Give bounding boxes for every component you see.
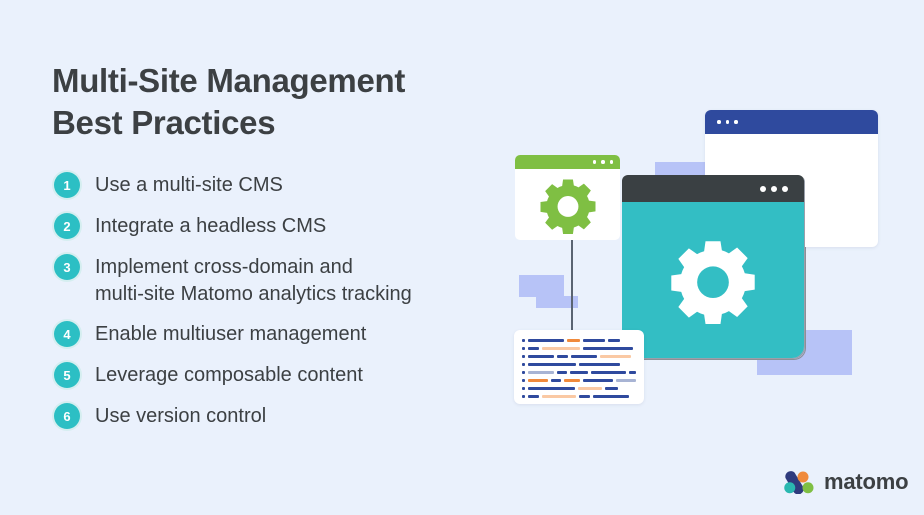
code-segment	[579, 363, 620, 367]
code-bullet	[522, 387, 525, 390]
list-number-badge: 3	[52, 252, 86, 281]
teal-window-titlebar	[622, 175, 804, 202]
code-segment	[567, 339, 580, 343]
list-item-label: Enable multiuser management	[95, 319, 366, 347]
matomo-logo-text: matomo	[824, 471, 908, 493]
teal-window	[622, 175, 804, 358]
matomo-logo-icon	[783, 470, 816, 494]
code-line	[522, 345, 636, 352]
code-line	[522, 385, 636, 392]
code-segment	[600, 355, 631, 359]
code-segment	[570, 371, 588, 375]
code-segment	[528, 379, 548, 383]
code-segment	[564, 379, 580, 383]
list-item-label: Use version control	[95, 401, 266, 429]
list-number-badge: 6	[52, 401, 86, 430]
list-number-badge: 5	[52, 360, 86, 389]
code-segment	[583, 339, 605, 343]
code-line	[522, 353, 636, 360]
list-item: 3 Implement cross-domain and multi-site …	[52, 252, 522, 307]
list-number-badge: 1	[52, 170, 86, 199]
code-segment	[528, 371, 554, 375]
code-snippet-card	[514, 330, 644, 404]
code-segment	[528, 347, 539, 351]
code-bullet	[522, 371, 525, 374]
code-segment	[542, 395, 576, 399]
window-dots-icon	[593, 160, 614, 164]
code-bullet	[522, 363, 525, 366]
code-line	[522, 393, 636, 400]
list-item-label: Use a multi-site CMS	[95, 170, 283, 198]
code-bullet	[522, 379, 525, 382]
window-dots-icon	[717, 120, 738, 124]
code-segment	[593, 395, 629, 399]
accent-block	[519, 275, 564, 297]
code-segment	[551, 379, 561, 383]
list-item: 4 Enable multiuser management	[52, 319, 522, 348]
code-segment	[557, 371, 567, 375]
list-item-label: Leverage composable content	[95, 360, 363, 388]
green-window-body	[515, 169, 620, 240]
code-line	[522, 361, 636, 368]
code-segment	[616, 379, 636, 383]
gear-icon	[669, 236, 757, 324]
connector-line	[571, 235, 573, 335]
code-segment	[528, 395, 539, 399]
code-segment	[583, 347, 633, 351]
matomo-logo: matomo	[783, 470, 908, 494]
code-segment	[528, 355, 554, 359]
slide-root: Multi-Site Management Best Practices 1 U…	[0, 0, 924, 515]
list-item-label: Integrate a headless CMS	[95, 211, 326, 239]
list-item: 2 Integrate a headless CMS	[52, 211, 522, 240]
content-column: Multi-Site Management Best Practices 1 U…	[52, 60, 522, 442]
green-window-titlebar	[515, 155, 620, 169]
code-segment	[591, 371, 626, 375]
code-segment	[571, 355, 597, 359]
code-segment	[579, 395, 590, 399]
code-segment	[557, 355, 568, 359]
blue-window-titlebar	[705, 110, 878, 134]
green-window	[515, 155, 620, 240]
code-segment	[629, 371, 636, 375]
code-segment	[528, 363, 576, 367]
list-number-badge: 4	[52, 319, 86, 348]
best-practices-list: 1 Use a multi-site CMS 2 Integrate a hea…	[52, 170, 522, 430]
teal-window-body	[622, 202, 804, 358]
page-title: Multi-Site Management Best Practices	[52, 60, 522, 144]
code-segment	[542, 347, 580, 351]
code-segment	[528, 339, 564, 343]
code-bullet	[522, 347, 525, 350]
code-bullet	[522, 395, 525, 398]
code-segment	[578, 387, 602, 391]
list-item: 5 Leverage composable content	[52, 360, 522, 389]
gear-icon	[539, 176, 597, 234]
code-bullet	[522, 339, 525, 342]
illustration	[500, 100, 900, 420]
code-line	[522, 337, 636, 344]
code-segment	[608, 339, 620, 343]
code-line	[522, 369, 636, 376]
list-number-badge: 2	[52, 211, 86, 240]
list-item: 6 Use version control	[52, 401, 522, 430]
code-segment	[528, 387, 575, 391]
code-bullet	[522, 355, 525, 358]
code-line	[522, 377, 636, 384]
code-segment	[605, 387, 618, 391]
code-segment	[583, 379, 614, 383]
list-item-label: Implement cross-domain and multi-site Ma…	[95, 252, 412, 307]
window-dots-icon	[760, 186, 788, 192]
list-item: 1 Use a multi-site CMS	[52, 170, 522, 199]
